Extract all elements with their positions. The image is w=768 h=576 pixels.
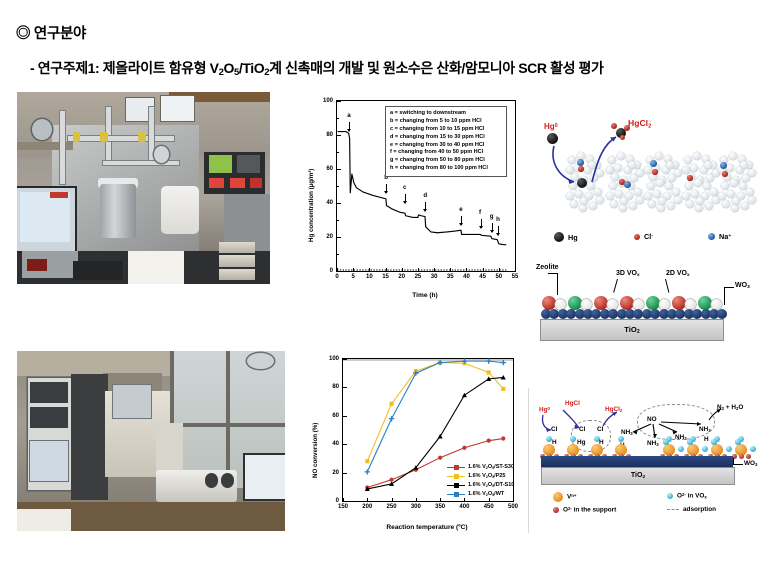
hg-annotation-arrow: [481, 219, 482, 228]
label-scr-tio2: TiO2: [631, 472, 645, 480]
catalyst-surface-sphere: [698, 296, 712, 310]
no-series-line: [367, 361, 503, 472]
no-x-ticklabel: 250: [387, 501, 397, 510]
hg-annotation-arrow: [386, 184, 387, 193]
scr-legend-dashed-swatch: [667, 509, 679, 510]
hg-x-ticklabel: 25: [415, 271, 422, 280]
no-chart-plot-area: 020406080100 150200250300350400450500 1.…: [342, 358, 514, 502]
hg-x-ticklabel: 5: [352, 271, 355, 280]
hg-legend-entry: f = changing from 40 to 50 ppm HCl: [390, 149, 502, 157]
no-y-ticklabel: 80: [332, 384, 343, 390]
hg-x-ticklabel: 10: [366, 271, 373, 280]
no-series-marker: [501, 387, 505, 391]
scr-legend-entry: Vn+: [553, 492, 576, 502]
no-legend-entry: 1.6% V2O5/ST-S30: [447, 463, 514, 472]
hg-y-ticklabel: 60: [326, 166, 337, 172]
no-x-ticklabel: 300: [411, 501, 421, 510]
no-x-ticklabel: 450: [484, 501, 494, 510]
scr-legend-entry: adsorption: [667, 506, 716, 513]
hg-annotation-label: h: [496, 216, 500, 223]
scr-legend-label: adsorption: [683, 506, 716, 513]
oxygen-in-vox: [570, 436, 576, 442]
scr-legend-entry: O2- in the support: [553, 506, 616, 514]
page-title: ◎ 연구분야: [16, 22, 86, 43]
no-series-marker: [501, 436, 505, 440]
hg-annotation-arrow: [498, 226, 499, 235]
hg-legend-entry: c = changing from 10 to 15 ppm HCl: [390, 126, 502, 134]
diagram-catalyst-layers: Zeolite 3D VOx 2D VOx WO3 TiO2: [528, 253, 766, 351]
oxygen-in-support: [739, 454, 744, 459]
no-series-marker: [438, 434, 443, 439]
no-series-marker: [389, 402, 393, 406]
no-legend-label: 1.6% V2O5/DT-S10: [468, 481, 514, 490]
leader-scr-wo3-h: [733, 464, 743, 465]
no-y-ticklabel: 40: [332, 441, 343, 447]
no-x-ticklabel: 150: [338, 501, 348, 510]
leader-scr-wo3-v: [733, 458, 734, 465]
hg-x-ticklabel: 15: [382, 271, 389, 280]
no-series-marker: [487, 439, 491, 443]
hg-annotation-label: g: [490, 213, 494, 220]
leader-zeolite-h: [548, 273, 558, 274]
scr-legend-swatch: [553, 492, 563, 502]
hg-annotation-arrow: [405, 194, 406, 203]
hg-legend-entry: h = changing from 80 to 100 ppm HCl: [390, 165, 502, 173]
tio2-support-slab: TiO2: [540, 319, 724, 341]
scr-legend-label: O2- in the support: [563, 506, 616, 514]
hg-annotation-label: a: [347, 112, 350, 119]
no-y-ticklabel: 100: [329, 356, 343, 362]
hg-x-ticklabel: 0: [335, 271, 338, 280]
no-series-marker: [389, 416, 394, 421]
no-legend-label: 1.6% V2O5/WT: [468, 490, 504, 499]
no-series-marker: [486, 358, 491, 363]
no-x-ticklabel: 200: [362, 501, 372, 510]
hg-annotation-arrow: [425, 202, 426, 211]
oxygen-in-vox: [594, 436, 600, 442]
catalyst-surface-sphere: [542, 296, 556, 310]
leader-3d-vox: [613, 279, 618, 293]
hg-x-ticklabel: 30: [431, 271, 438, 280]
hg-x-ticklabel: 55: [512, 271, 519, 280]
hg-annotation-label: e: [459, 206, 462, 213]
hg-y-ticklabel: 40: [326, 200, 337, 206]
bridging-oxygen-in-vox: [750, 446, 756, 452]
hg-chart-plot-area: 020406080100 0510152025303540455055 abcd…: [336, 100, 516, 272]
no-legend-symbol: [447, 464, 465, 471]
hg-legend-entry: g = changing from 50 to 80 ppm HCl: [390, 157, 502, 165]
no-x-ticklabel: 400: [459, 501, 469, 510]
hg-chart-ylabel: Hg concentration (µg/m³): [308, 169, 315, 242]
bridging-oxygen-in-vox: [735, 439, 741, 445]
chart-no-conversion: NO conversion (%) Reaction temperature (…: [300, 350, 535, 545]
diagram-scr-mechanism: Hg0 HgCl HgCl2 NO N2 + H2O NH3 NH3 NH3 N…: [528, 388, 767, 533]
hg-legend-entry: e = changing from 30 to 40 ppm HCl: [390, 142, 502, 150]
catalyst-surface-sphere: [672, 296, 686, 310]
slide-canvas: ◎ 연구분야 - 연구주제1: 제올라이트 함유형 V2O5/TiO2계 신촉매…: [0, 0, 768, 576]
hg-y-ticklabel: 80: [326, 132, 337, 138]
hg-annotation-arrow: [349, 122, 350, 131]
label-tio2: TiO2: [624, 325, 639, 335]
subtitle-part-1: - 연구주제1: 제올라이트 함유형 V: [30, 60, 219, 76]
no-series-marker: [462, 446, 466, 450]
no-chart-xlabel: Reaction temperature (ºC): [342, 524, 512, 531]
scr-legend-entry: O2- in VOx: [667, 492, 707, 500]
hg-y-ticklabel: 100: [323, 98, 337, 104]
no-series-marker: [365, 469, 370, 474]
subtitle-part-2: O: [223, 60, 234, 76]
no-series-line: [367, 363, 503, 462]
hg-x-ticklabel: 35: [447, 271, 454, 280]
scr-legend-label: O2- in VOx: [677, 492, 707, 500]
oxygen-in-vox: [618, 436, 624, 442]
catalyst-surface-sphere: [594, 296, 608, 310]
catalyst-surface-sphere: [620, 296, 634, 310]
bridging-oxygen-in-vox: [702, 446, 708, 452]
no-series-marker: [365, 459, 369, 463]
catalyst-surface-sphere: [646, 296, 660, 310]
no-series-marker: [501, 360, 506, 365]
label-2d-vox: 2D VOx: [666, 270, 690, 278]
hg-annotation-label: f: [479, 209, 481, 216]
hg-y-ticklabel: 20: [326, 234, 337, 240]
no-chart-legend: 1.6% V2O5/ST-S301.6% V2O5/P251.6% V2O5/D…: [447, 463, 514, 499]
hg-annotation-label: d: [423, 192, 427, 199]
hg-legend-entry: a = switching to downstream: [390, 110, 502, 118]
research-topic-subtitle: - 연구주제1: 제올라이트 함유형 V2O5/TiO2계 신촉매의 개발 및 …: [30, 58, 604, 78]
hg-legend-entry: b = changing from 5 to 10 ppm HCl: [390, 118, 502, 126]
bridging-oxygen-in-vox: [663, 439, 669, 445]
leader-zeolite: [557, 273, 558, 295]
label-zeolite: Zeolite: [536, 264, 559, 271]
no-series-marker: [389, 478, 393, 482]
scr-tio2-support: TiO2: [541, 467, 735, 485]
hg-legend-entry: d = changing from 15 to 30 ppm HCl: [390, 134, 502, 142]
diagram-hg-oxidation-on-zeolite: Hg0 HgCl2 HgCl-Na+: [540, 96, 760, 254]
lab-photo-scr-ftir-bench: [17, 351, 285, 531]
subtitle-part-3: /TiO: [239, 60, 264, 76]
bridging-oxygen-in-vox: [678, 446, 684, 452]
hg-x-ticklabel: 40: [463, 271, 470, 280]
zeolite-reaction-arrows: [540, 96, 760, 254]
no-series-marker: [487, 370, 491, 374]
bridging-oxygen-in-vox: [711, 439, 717, 445]
chart-hg-concentration: Hg concentration (µg/m³) Time (h) 020406…: [300, 92, 525, 307]
hg-x-ticklabel: 20: [398, 271, 405, 280]
hg-annotation-arrow: [461, 216, 462, 225]
oxygen-in-support: [746, 454, 751, 459]
no-legend-label: 1.6% V2O5/P25: [468, 472, 506, 481]
leader-wo3-v: [724, 287, 725, 305]
no-y-ticklabel: 20: [332, 470, 343, 476]
hg-annotation-label: c: [403, 184, 406, 191]
no-legend-symbol: [447, 473, 465, 480]
hg-chart-legend: a = switching to downstreamb = changing …: [385, 106, 507, 177]
no-legend-entry: 1.6% V2O5/WT: [447, 490, 514, 499]
scr-legend-swatch: [667, 493, 673, 499]
leader-2d-vox: [665, 279, 669, 293]
label-wo3: WO3: [735, 282, 750, 290]
label-3d-vox: 3D VOx: [616, 270, 640, 278]
scr-legend-label: Vn+: [567, 493, 576, 501]
no-legend-symbol: [447, 491, 465, 498]
no-series-marker: [438, 456, 442, 460]
bridging-oxygen-in-vox: [687, 439, 693, 445]
no-chart-ylabel: NO conversion (%): [312, 423, 319, 478]
wo3-layer: [541, 456, 733, 467]
bridging-oxygen-in-vox: [726, 446, 732, 452]
lab-photo-hg-oxidation-rig: [17, 92, 270, 284]
hg-x-ticklabel: 45: [479, 271, 486, 280]
no-y-ticklabel: 60: [332, 413, 343, 419]
catalyst-surface-sphere: [568, 296, 582, 310]
subtitle-part-4: 계 신촉매의 개발 및 원소수은 산화/암모니아 SCR 활성 평가: [269, 60, 603, 76]
no-x-ticklabel: 350: [435, 501, 445, 510]
no-legend-label: 1.6% V2O5/ST-S30: [468, 463, 514, 472]
no-legend-entry: 1.6% V2O5/P25: [447, 472, 514, 481]
wo3-sphere: [717, 309, 727, 319]
oxygen-in-vox: [546, 436, 552, 442]
hg-x-ticklabel: 50: [495, 271, 502, 280]
no-legend-symbol: [447, 482, 465, 489]
leader-wo3-h: [724, 287, 734, 288]
hg-annotation-arrow: [492, 223, 493, 232]
scr-legend-swatch: [553, 507, 559, 513]
hg-chart-xlabel: Time (h): [336, 292, 514, 299]
no-legend-entry: 1.6% V2O5/DT-S10: [447, 481, 514, 490]
no-x-ticklabel: 500: [508, 501, 518, 510]
